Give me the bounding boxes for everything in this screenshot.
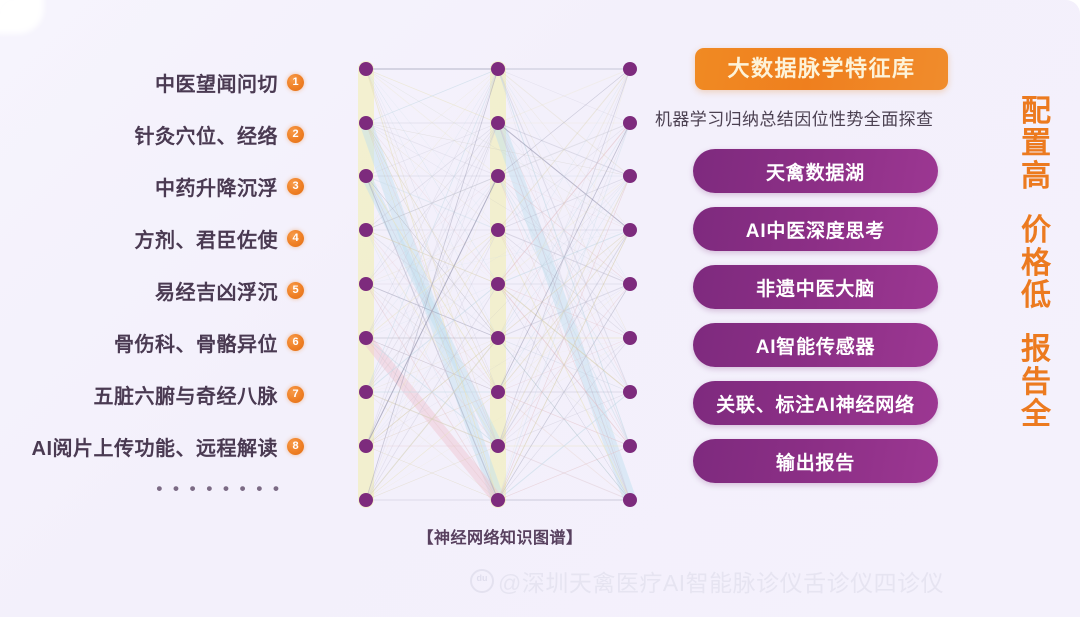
- feature-number-badge: 4: [287, 230, 304, 247]
- graph-node[interactable]: [359, 385, 373, 399]
- list-continuation-dots: • • • • • • • •: [0, 472, 340, 506]
- process-step-list: 天禽数据湖AI中医深度思考非遗中医大脑AI智能传感器关联、标注AI神经网络输出报…: [693, 149, 985, 483]
- graph-node[interactable]: [359, 223, 373, 237]
- graph-node[interactable]: [623, 116, 637, 130]
- feature-label-text: 五脏六腑与奇经八脉: [94, 380, 279, 409]
- slogan-char: 告: [1021, 367, 1051, 399]
- graph-node[interactable]: [491, 277, 505, 291]
- graph-node[interactable]: [623, 331, 637, 345]
- feature-number-badge: 2: [287, 126, 304, 143]
- graph-node[interactable]: [491, 62, 505, 76]
- feature-label-text: AI阅片上传功能、远程解读: [32, 432, 279, 461]
- corner-glow-decoration: [0, 0, 44, 34]
- process-step-2[interactable]: AI中医深度思考: [693, 207, 938, 251]
- graph-node[interactable]: [623, 277, 637, 291]
- feature-list-item[interactable]: 中药升降沉浮3: [0, 160, 340, 212]
- process-step-3[interactable]: 非遗中医大脑: [693, 265, 938, 309]
- feature-label-text: 中医望闻问切: [155, 68, 278, 97]
- feature-label-list: 中医望闻问切1针灸穴位、经络2中药升降沉浮3方剂、君臣佐使4易经吉凶浮沉5骨伤科…: [0, 56, 340, 506]
- process-step-5[interactable]: 关联、标注AI神经网络: [693, 381, 938, 425]
- feature-number-badge: 3: [287, 178, 304, 195]
- feature-label-text: 针灸穴位、经络: [135, 120, 279, 149]
- graph-node[interactable]: [491, 439, 505, 453]
- feature-label-text: 方剂、君臣佐使: [135, 224, 279, 253]
- graph-node[interactable]: [359, 493, 373, 507]
- graph-node-layer: [359, 62, 637, 507]
- slogan-char: 配: [1021, 96, 1051, 128]
- graph-node[interactable]: [623, 439, 637, 453]
- slogan-char: 格: [1021, 248, 1051, 280]
- slogan-char: 价: [1021, 215, 1051, 247]
- graph-node[interactable]: [623, 223, 637, 237]
- poster-canvas: 中医望闻问切1针灸穴位、经络2中药升降沉浮3方剂、君臣佐使4易经吉凶浮沉5骨伤科…: [0, 0, 1080, 617]
- feature-number-badge: 6: [287, 334, 304, 351]
- graph-caption: 【神经网络知识图谱】: [350, 524, 650, 548]
- slogan-char: 置: [1021, 128, 1051, 160]
- graph-node[interactable]: [491, 331, 505, 345]
- panel-subtitle: 机器学习归纳总结因位性势全面探查: [655, 105, 985, 130]
- neural-network-graph: [350, 52, 650, 522]
- watermark-text: @深圳天禽医疗AI智能脉诊仪舌诊仪四诊仪: [498, 564, 944, 598]
- right-panel: 大数据脉学特征库 机器学习归纳总结因位性势全面探查 天禽数据湖AI中医深度思考非…: [655, 48, 985, 497]
- feature-list-item[interactable]: 五脏六腑与奇经八脉7: [0, 368, 340, 420]
- feature-list-item[interactable]: AI阅片上传功能、远程解读8: [0, 420, 340, 472]
- slogan-group-2: 价格低: [1021, 215, 1051, 312]
- graph-node[interactable]: [359, 169, 373, 183]
- watermark: @深圳天禽医疗AI智能脉诊仪舌诊仪四诊仪: [470, 564, 944, 598]
- big-data-badge: 大数据脉学特征库: [695, 48, 948, 90]
- graph-node[interactable]: [623, 385, 637, 399]
- graph-node[interactable]: [491, 493, 505, 507]
- process-step-4[interactable]: AI智能传感器: [693, 323, 938, 367]
- feature-number-badge: 1: [287, 74, 304, 91]
- slogan-char: 报: [1021, 334, 1051, 366]
- graph-node[interactable]: [359, 277, 373, 291]
- feature-number-badge: 8: [287, 438, 304, 455]
- graph-node[interactable]: [491, 223, 505, 237]
- slogan-char: 高: [1021, 161, 1051, 193]
- feature-list-item[interactable]: 骨伤科、骨骼异位6: [0, 316, 340, 368]
- feature-number-badge: 5: [287, 282, 304, 299]
- graph-node[interactable]: [491, 116, 505, 130]
- feature-label-text: 中药升降沉浮: [155, 172, 278, 201]
- graph-node[interactable]: [623, 169, 637, 183]
- feature-list-item[interactable]: 易经吉凶浮沉5: [0, 264, 340, 316]
- process-step-1[interactable]: 天禽数据湖: [693, 149, 938, 193]
- graph-node[interactable]: [623, 62, 637, 76]
- graph-node[interactable]: [491, 385, 505, 399]
- graph-node[interactable]: [623, 493, 637, 507]
- feature-number-badge: 7: [287, 386, 304, 403]
- graph-node[interactable]: [359, 331, 373, 345]
- graph-node[interactable]: [491, 169, 505, 183]
- slogan-char: 全: [1021, 399, 1051, 431]
- feature-list-item[interactable]: 中医望闻问切1: [0, 56, 340, 108]
- graph-node[interactable]: [359, 62, 373, 76]
- feature-label-text: 骨伤科、骨骼异位: [114, 328, 278, 357]
- slogan-char: 低: [1021, 280, 1051, 312]
- graph-node[interactable]: [359, 439, 373, 453]
- process-step-6[interactable]: 输出报告: [693, 439, 938, 483]
- slogan-group-1: 配置高: [1021, 96, 1051, 193]
- slogan-group-3: 报告全: [1021, 334, 1051, 431]
- vertical-slogan: 配置高价格低报告全: [1010, 96, 1062, 454]
- baidu-logo-icon: [470, 569, 494, 593]
- feature-list-item[interactable]: 方剂、君臣佐使4: [0, 212, 340, 264]
- graph-canvas: [350, 52, 650, 522]
- feature-label-text: 易经吉凶浮沉: [155, 276, 278, 305]
- feature-list-item[interactable]: 针灸穴位、经络2: [0, 108, 340, 160]
- graph-node[interactable]: [359, 116, 373, 130]
